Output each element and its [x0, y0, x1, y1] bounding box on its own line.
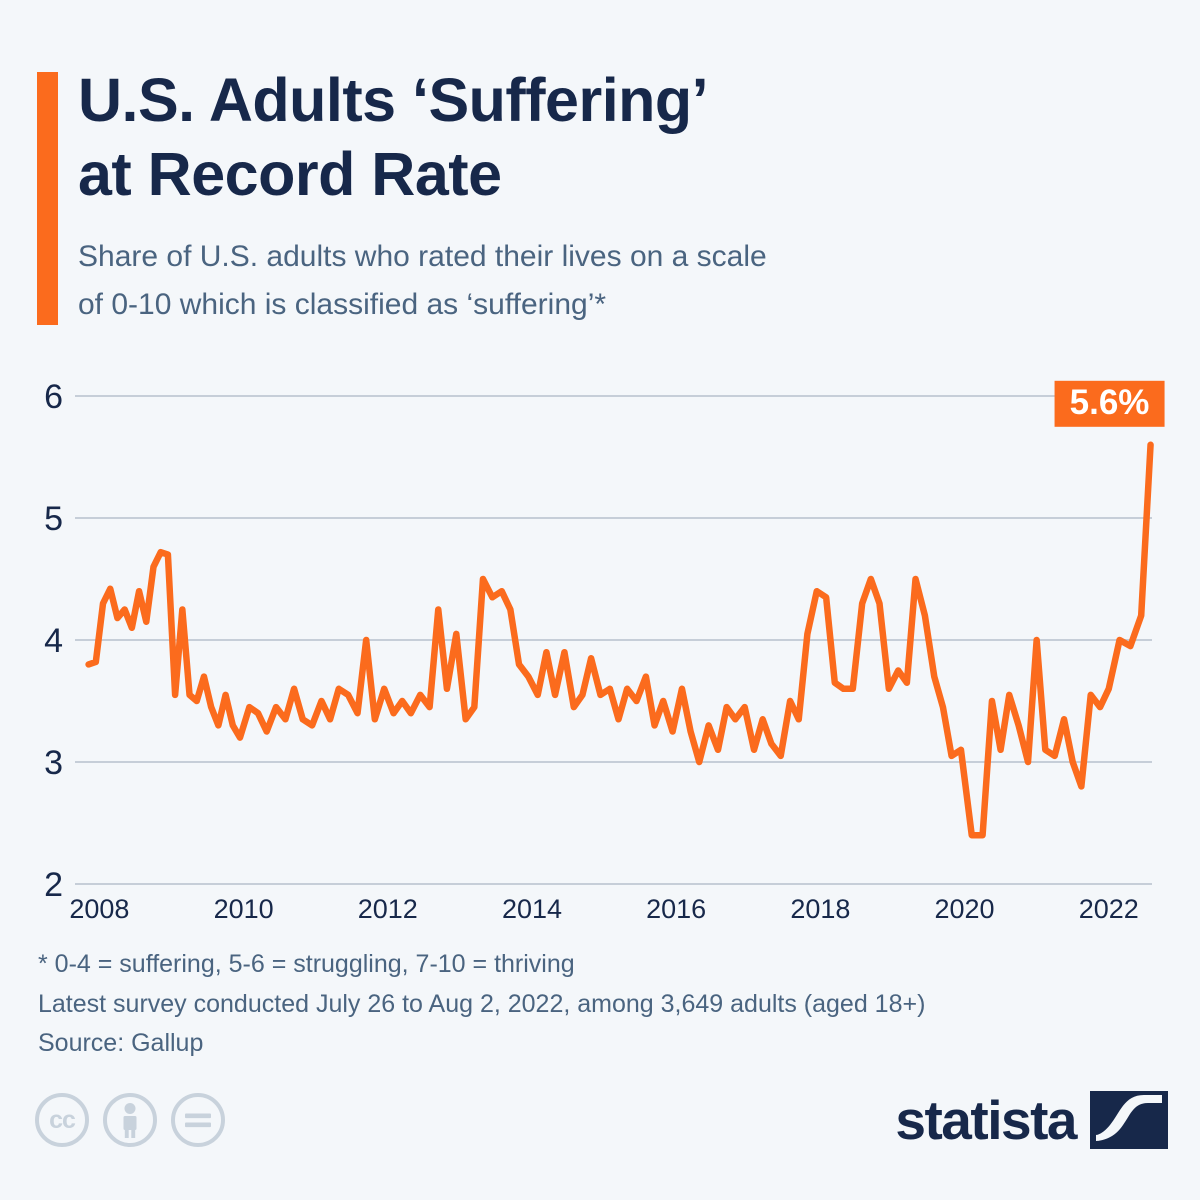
- y-tick-label: 4: [44, 622, 63, 660]
- page-title: U.S. Adults ‘Suffering’ at Record Rate: [78, 63, 1078, 212]
- statista-s-curve-mark: [1090, 1091, 1168, 1149]
- cc-by-person-icon: [103, 1093, 157, 1147]
- x-tick-label: 2016: [646, 894, 706, 920]
- cc-icon-label: cc: [49, 1108, 75, 1133]
- y-tick-label: 6: [44, 378, 63, 416]
- x-tick-label: 2018: [790, 894, 850, 920]
- footnote-survey-details: Latest survey conducted July 26 to Aug 2…: [38, 985, 1158, 1025]
- accent-bar: [37, 72, 58, 325]
- page-subtitle: Share of U.S. adults who rated their liv…: [78, 233, 1088, 329]
- equals-icon: [183, 1110, 213, 1130]
- x-tick-label: 2008: [69, 894, 129, 920]
- cc-icon: cc: [35, 1093, 89, 1147]
- x-tick-label: 2022: [1079, 894, 1139, 920]
- x-tick-label: 2020: [935, 894, 995, 920]
- infographic-page: U.S. Adults ‘Suffering’ at Record Rate S…: [0, 0, 1200, 1200]
- footnotes: * 0-4 = suffering, 5-6 = struggling, 7-1…: [38, 945, 1158, 1064]
- last-value-badge: 5.6%: [1055, 381, 1165, 427]
- footnote-source: Source: Gallup: [38, 1024, 1158, 1064]
- chart-container: 23456 20082010201220142016201820202022 5…: [0, 360, 1200, 920]
- x-tick-label: 2014: [502, 894, 562, 920]
- y-tick-label: 2: [44, 866, 63, 904]
- x-tick-label: 2010: [214, 894, 274, 920]
- line-chart: 23456 20082010201220142016201820202022 5…: [0, 360, 1200, 920]
- statista-logo[interactable]: statista: [895, 1091, 1168, 1149]
- cc-nd-equals-icon: [171, 1093, 225, 1147]
- person-icon: [115, 1102, 145, 1138]
- header: U.S. Adults ‘Suffering’ at Record Rate S…: [0, 0, 1200, 350]
- y-tick-label: 5: [44, 500, 63, 538]
- footnote-definition: * 0-4 = suffering, 5-6 = struggling, 7-1…: [38, 945, 1158, 985]
- chart-gridlines: [75, 396, 1152, 884]
- y-tick-label: 3: [44, 744, 63, 782]
- creative-commons-icons: cc: [35, 1093, 225, 1147]
- value-badge-label: 5.6%: [1070, 383, 1150, 422]
- bottom-bar: cc statista: [0, 1085, 1200, 1185]
- y-axis-tick-labels: 23456: [44, 378, 63, 904]
- statista-logo-wordmark: statista: [895, 1093, 1076, 1148]
- x-axis-tick-labels: 20082010201220142016201820202022: [69, 894, 1138, 920]
- x-tick-label: 2012: [358, 894, 418, 920]
